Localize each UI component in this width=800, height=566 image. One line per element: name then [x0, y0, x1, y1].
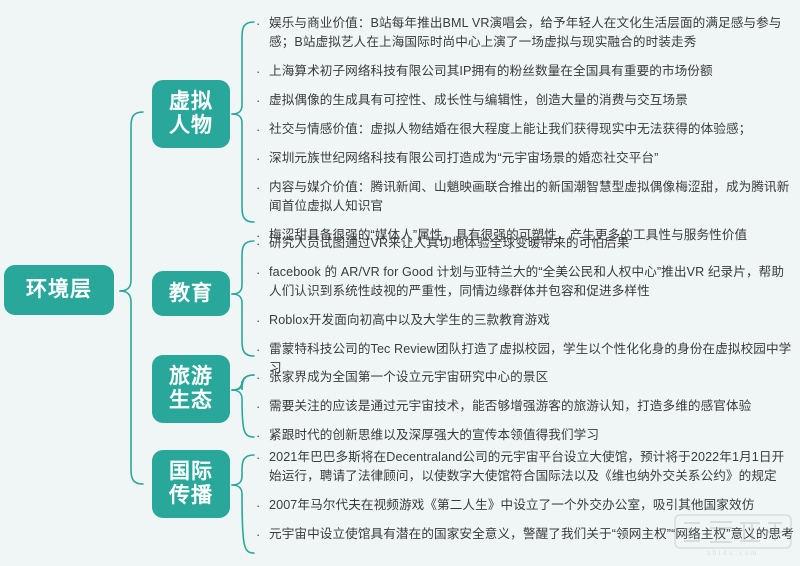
- bullet-item: ·上海算术初子网络科技有限公司其IP拥有的粉丝数量在全国具有重要的市场份额: [256, 62, 796, 81]
- bullet-item: ·2021年巴巴多斯将在Decentraland公司的元宇宙平台设立大使馆，预计…: [256, 448, 796, 486]
- bullet-text: 娱乐与商业价值：B站每年推出BML VR演唱会，给予年轻人在文化生活层面的满足感…: [269, 14, 796, 52]
- bullet-dot-icon: ·: [256, 91, 269, 110]
- bullet-item: ·社交与情感价值：虚拟人物结婚在很大程度上能让我们获得现实中无法获得的体验感；: [256, 120, 796, 139]
- bullet-dot-icon: ·: [256, 311, 269, 330]
- bullet-group-education: ·研究人员试图通过VR来让人真切地体验全球变暖带来的可怕后果·facebook …: [256, 234, 796, 378]
- bullet-dot-icon: ·: [256, 368, 269, 387]
- branch-node-label: 虚拟 人物: [169, 90, 213, 138]
- branch-node-label: 国际 传播: [169, 460, 213, 508]
- root-node-label: 环境层: [26, 278, 92, 302]
- bullet-dot-icon: ·: [256, 340, 269, 359]
- bullet-dot-icon: ·: [256, 263, 269, 282]
- bullet-item: ·2007年马尔代夫在视频游戏《第二人生》中设立了一个外交办公室，吸引其他国家效…: [256, 496, 796, 515]
- connector-branch-1-top: [232, 241, 254, 294]
- connector-branch-3-top: [232, 455, 254, 485]
- branch-node-education[interactable]: 教育: [152, 271, 230, 316]
- bullet-item: ·深圳元族世纪网络科技有限公司打造成为“元宇宙场景的婚恋社交平台”: [256, 149, 796, 168]
- bullet-dot-icon: ·: [256, 525, 269, 544]
- bullet-dot-icon: ·: [256, 178, 269, 197]
- bullet-dot-icon: ·: [256, 496, 269, 515]
- mindmap-canvas: 环境层 虚拟 人物 教育 旅游 生态 国际 传播 ·娱乐与商业价值：B站每年推出…: [0, 0, 800, 566]
- bullet-dot-icon: ·: [256, 120, 269, 139]
- bullet-text: 2007年马尔代夫在视频游戏《第二人生》中设立了一个外交办公室，吸引其他国家效仿: [269, 496, 796, 515]
- bullet-item: ·张家界成为全国第一个设立元宇宙研究中心的景区: [256, 368, 796, 387]
- connector-branch-0-bottom: [232, 114, 254, 222]
- connector-branch-2-top-b: [232, 375, 254, 390]
- bullet-item: ·内容与媒介价值：腾讯新闻、山魈映画联合推出的新国潮智慧型虚拟偶像梅涩甜，成为腾…: [256, 178, 796, 216]
- watermark-label: zhidx.com: [674, 549, 792, 557]
- bullet-dot-icon: ·: [256, 426, 269, 445]
- bullet-text: 社交与情感价值：虚拟人物结婚在很大程度上能让我们获得现实中无法获得的体验感；: [269, 120, 796, 139]
- bullet-item: ·Roblox开发面向初高中以及大学生的三款教育游戏: [256, 311, 796, 330]
- bullet-item: ·虚拟偶像的生成具有可控性、成长性与编辑性，创造大量的消费与交互场景: [256, 91, 796, 110]
- bullet-group-tourism-ecology: ·张家界成为全国第一个设立元宇宙研究中心的景区·需要关注的应该是通过元宇宙技术，…: [256, 368, 796, 445]
- branch-node-label: 旅游 生态: [169, 365, 213, 413]
- bullet-text: 张家界成为全国第一个设立元宇宙研究中心的景区: [269, 368, 796, 387]
- connector-branch-0-top: [232, 22, 254, 114]
- bullet-text: facebook 的 AR/VR for Good 计划与亚特兰大的“全美公民和…: [269, 263, 796, 301]
- bullet-item: ·元宇宙中设立使馆具有潜在的国家安全意义，警醒了我们关于“领网主权”“网络主权”…: [256, 525, 796, 544]
- bullet-item: ·紧跟时代的创新思维以及深厚强大的宣传本领值得我们学习: [256, 426, 796, 445]
- branch-node-virtual-character[interactable]: 虚拟 人物: [152, 80, 230, 148]
- connector-branch-2-bottom: [232, 390, 254, 437]
- bullet-text: 上海算术初子网络科技有限公司其IP拥有的粉丝数量在全国具有重要的市场份额: [269, 62, 796, 81]
- bullet-text: 内容与媒介价值：腾讯新闻、山魈映画联合推出的新国潮智慧型虚拟偶像梅涩甜，成为腾讯…: [269, 178, 796, 216]
- bullet-group-virtual-character: ·娱乐与商业价值：B站每年推出BML VR演唱会，给予年轻人在文化生活层面的满足…: [256, 14, 796, 245]
- root-node[interactable]: 环境层: [4, 265, 114, 315]
- bullet-text: 紧跟时代的创新思维以及深厚强大的宣传本领值得我们学习: [269, 426, 796, 445]
- bullet-group-international-communication: ·2021年巴巴多斯将在Decentraland公司的元宇宙平台设立大使馆，预计…: [256, 448, 796, 544]
- bullet-text: 研究人员试图通过VR来让人真切地体验全球变暖带来的可怕后果: [269, 234, 796, 253]
- bullet-dot-icon: ·: [256, 62, 269, 81]
- connector-branch-1-bottom: [232, 294, 254, 356]
- bullet-text: 虚拟偶像的生成具有可控性、成长性与编辑性，创造大量的消费与交互场景: [269, 91, 796, 110]
- bullet-text: 需要关注的应该是通过元宇宙技术，能否够增强游客的旅游认知，打造多维的感官体验: [269, 397, 796, 416]
- bullet-dot-icon: ·: [256, 448, 269, 467]
- bullet-item: ·研究人员试图通过VR来让人真切地体验全球变暖带来的可怕后果: [256, 234, 796, 253]
- branch-node-international-communication[interactable]: 国际 传播: [152, 450, 230, 518]
- bullet-text: 2021年巴巴多斯将在Decentraland公司的元宇宙平台设立大使馆，预计将…: [269, 448, 796, 486]
- bullet-text: Roblox开发面向初高中以及大学生的三款教育游戏: [269, 311, 796, 330]
- bullet-text: 元宇宙中设立使馆具有潜在的国家安全意义，警醒了我们关于“领网主权”“网络主权”意…: [269, 525, 796, 544]
- branch-node-label: 教育: [169, 282, 213, 306]
- connector-root-top: [120, 112, 143, 291]
- connector-root-bottom: [120, 291, 143, 484]
- bullet-item: ·娱乐与商业价值：B站每年推出BML VR演唱会，给予年轻人在文化生活层面的满足…: [256, 14, 796, 52]
- branch-node-tourism-ecology[interactable]: 旅游 生态: [152, 355, 230, 423]
- bullet-item: ·需要关注的应该是通过元宇宙技术，能否够增强游客的旅游认知，打造多维的感官体验: [256, 397, 796, 416]
- connector-branch-2-top: [232, 375, 254, 390]
- bullet-dot-icon: ·: [256, 397, 269, 416]
- bullet-text: 深圳元族世纪网络科技有限公司打造成为“元宇宙场景的婚恋社交平台”: [269, 149, 796, 168]
- connector-branch-3-bottom: [232, 485, 254, 553]
- bullet-dot-icon: ·: [256, 14, 269, 33]
- bullet-dot-icon: ·: [256, 149, 269, 168]
- bullet-dot-icon: ·: [256, 234, 269, 253]
- bullet-item: ·facebook 的 AR/VR for Good 计划与亚特兰大的“全美公民…: [256, 263, 796, 301]
